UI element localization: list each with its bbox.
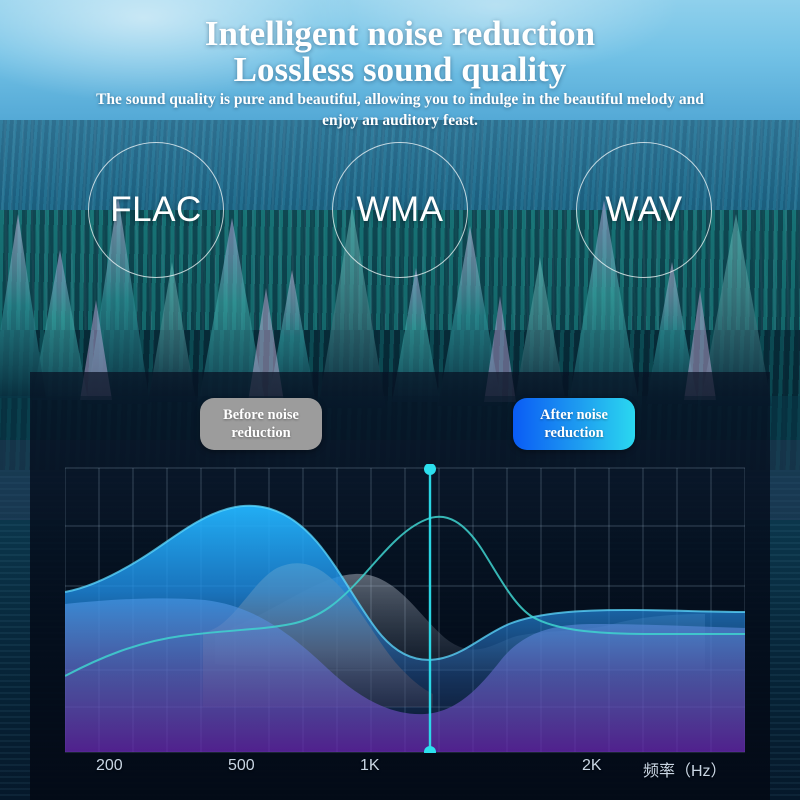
chart-x-axis: 200 500 1K 2K 频率（Hz） (0, 757, 800, 791)
format-badge-wma: WMA (332, 142, 468, 278)
poster-root: Intelligent noise reduction Lossless sou… (0, 0, 800, 800)
axis-unit-label: 频率（Hz） (643, 757, 727, 781)
format-label: FLAC (110, 190, 201, 230)
legend-badge-after: After noise reduction (513, 398, 635, 450)
axis-tick-200: 200 (96, 757, 123, 775)
format-label: WAV (605, 190, 682, 230)
headline-line-1: Intelligent noise reduction (205, 14, 595, 53)
format-badge-wav: WAV (576, 142, 712, 278)
page-subtitle: The sound quality is pure and beautiful,… (0, 90, 800, 132)
axis-tick-500: 500 (228, 757, 255, 775)
audio-format-list: FLAC WMA WAV (0, 142, 800, 282)
frequency-response-chart[interactable] (65, 464, 745, 753)
legend-badge-before: Before noise reduction (200, 398, 322, 450)
format-badge-flac: FLAC (88, 142, 224, 278)
chart-svg (65, 464, 745, 753)
page-title: Intelligent noise reduction Lossless sou… (0, 16, 800, 89)
axis-tick-2k: 2K (582, 757, 602, 775)
cursor-handle-top[interactable] (424, 464, 436, 475)
format-label: WMA (356, 190, 443, 230)
axis-tick-1k: 1K (360, 757, 380, 775)
headline-line-2: Lossless sound quality (0, 52, 800, 88)
